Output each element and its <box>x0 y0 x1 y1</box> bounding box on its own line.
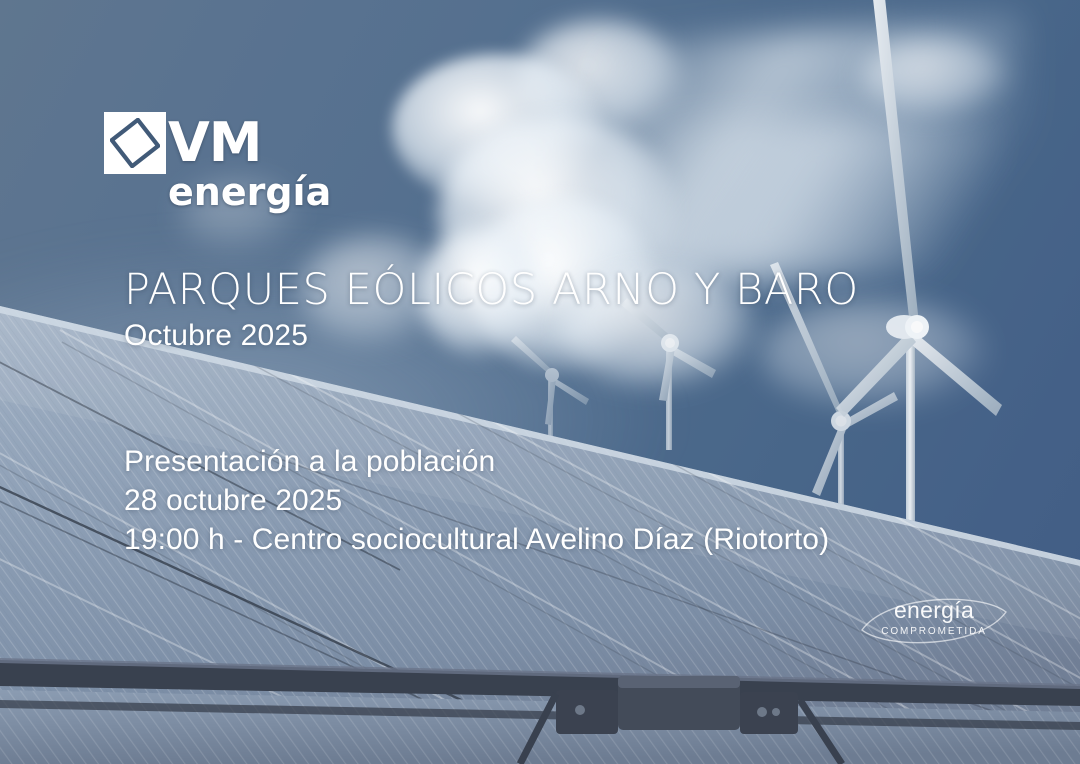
badge-word: energía <box>858 598 1010 622</box>
event-detail-line: 19:00 h - Centro sociocultural Avelino D… <box>124 520 829 559</box>
badge-subword: COMPROMETIDA <box>858 626 1010 638</box>
diamond-outline-icon <box>104 112 166 174</box>
presentation-slide: VM energía PARQUES EÓLICOS ARNO Y BARO O… <box>0 0 1080 764</box>
logo-row: VM <box>104 112 262 174</box>
logo-subword: energía <box>168 172 331 212</box>
event-details: Presentación a la población 28 octubre 2… <box>124 442 829 559</box>
brand-logo: VM energía <box>104 112 331 212</box>
event-detail-line: 28 octubre 2025 <box>124 481 829 520</box>
page-title: PARQUES EÓLICOS ARNO Y BARO <box>124 266 859 314</box>
logo-wordmark: VM <box>168 116 262 170</box>
event-detail-line: Presentación a la población <box>124 442 829 481</box>
energia-comprometida-badge: energía COMPROMETIDA <box>858 586 1010 658</box>
page-subtitle: Octubre 2025 <box>124 317 859 355</box>
title-block: PARQUES EÓLICOS ARNO Y BARO Octubre 2025 <box>124 266 859 355</box>
